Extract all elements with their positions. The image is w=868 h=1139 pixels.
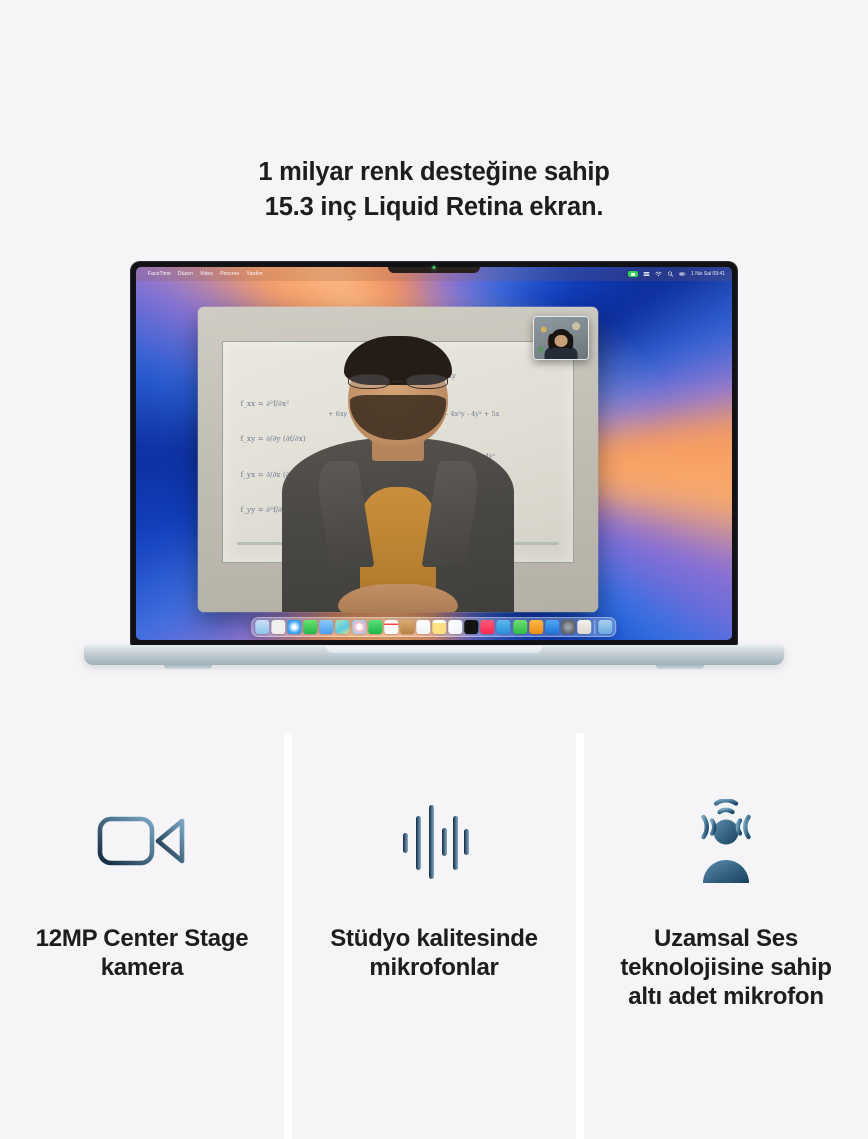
dock-item-launchpad[interactable] (271, 620, 285, 634)
laptop-foot-left (164, 665, 212, 669)
microphones-label-line-1: Stüdyo kalitesinde (330, 925, 538, 954)
battery-icon[interactable] (679, 271, 686, 277)
headline-line-1: 1 milyar renk desteğine sahip (0, 155, 868, 190)
dock-item-music[interactable] (481, 620, 495, 634)
caller-presenter (198, 423, 598, 612)
camera-label-line-1: 12MP Center Stage (36, 925, 249, 954)
audio-waveform-icon (399, 791, 469, 891)
menu-bar-clock[interactable]: 1 Nis Sal 09:41 (691, 271, 725, 277)
spatial-label-line-3: altı adet mikrofon (620, 983, 831, 1012)
control-center-icon[interactable] (643, 271, 650, 277)
search-icon[interactable] (667, 271, 674, 277)
dock-item-reminders[interactable] (416, 620, 430, 634)
glasses-lens-right (406, 374, 448, 389)
dock-item-app-store[interactable] (545, 620, 559, 634)
dock-item-facetime[interactable] (368, 620, 382, 634)
feature-card-spatial-audio-label: Uzamsal Ses teknolojisine sahip altı ade… (620, 925, 831, 1011)
feature-card-camera: 12MP Center Stage kamera (0, 733, 284, 1139)
dock-item-numbers[interactable] (513, 620, 527, 634)
dock-item-system-settings[interactable] (561, 620, 575, 634)
dock-item-keynote[interactable] (497, 620, 511, 634)
laptop-deck (84, 645, 784, 665)
video-feed-main: f_xx = ∂²f/∂x² f_xy = ∂/∂y (∂f/∂x) f_yx … (198, 307, 598, 612)
picture-in-picture-video[interactable] (533, 316, 589, 360)
dock-item-calendar[interactable] (384, 620, 398, 634)
dock-item-photos[interactable] (352, 620, 366, 634)
laptop-base (84, 645, 784, 679)
menu-item-pencere[interactable]: Pencere (220, 271, 239, 277)
hero-section: 1 milyar renk desteğine sahip 15.3 inç L… (0, 0, 868, 733)
dock-item-finder[interactable] (255, 620, 269, 634)
glasses-lens-left (348, 374, 390, 389)
dock-item-notes[interactable] (432, 620, 446, 634)
dock-item-safari[interactable] (287, 620, 301, 634)
dock-item-preview[interactable] (577, 620, 591, 634)
menu-item-facetime[interactable]: FaceTime (148, 271, 171, 277)
caller-glasses-icon (348, 374, 448, 389)
dock-item-messages[interactable] (304, 620, 318, 634)
feature-card-microphones-label: Stüdyo kalitesinde mikrofonlar (330, 925, 538, 983)
feature-card-camera-label: 12MP Center Stage kamera (36, 925, 249, 983)
menu-bar-items: FaceTime Düzen Video Pencere Yardım (141, 271, 263, 277)
dock-item-maps[interactable] (336, 620, 350, 634)
menu-bar-status-items: 1 Nis Sal 09:41 (628, 271, 727, 277)
feature-card-microphones: Stüdyo kalitesinde mikrofonlar (292, 733, 576, 1139)
macos-dock[interactable] (251, 617, 616, 637)
feature-card-spatial-audio: Uzamsal Ses teknolojisine sahip altı ade… (584, 733, 868, 1139)
microphones-label-line-2: mikrofonlar (330, 954, 538, 983)
dock-item-mail[interactable] (320, 620, 334, 634)
page-title: 1 milyar renk desteğine sahip 15.3 inç L… (0, 155, 868, 225)
dock-item-apple-tv[interactable] (465, 620, 479, 634)
glasses-bridge (392, 381, 404, 382)
laptop-foot-right (656, 665, 704, 669)
laptop-lid-lip (327, 646, 542, 653)
equation-left-1: f_xx = ∂²f/∂x² (241, 399, 290, 408)
laptop-lid: FaceTime Düzen Video Pencere Yardım (131, 262, 737, 646)
laptop-screen: FaceTime Düzen Video Pencere Yardım (136, 267, 732, 640)
macbook-air-product-image: FaceTime Düzen Video Pencere Yardım (84, 262, 784, 679)
spatial-label-line-1: Uzamsal Ses (620, 925, 831, 954)
menu-item-yardim[interactable]: Yardım (246, 271, 262, 277)
spatial-label-line-2: teknolojisine sahip (620, 954, 831, 983)
camera-in-use-indicator-icon (628, 271, 638, 277)
macos-menu-bar: FaceTime Düzen Video Pencere Yardım (136, 267, 732, 281)
pip-participant (544, 329, 577, 359)
video-camera-icon (96, 791, 188, 891)
spatial-audio-person-icon (683, 791, 769, 891)
wifi-icon[interactable] (655, 271, 662, 277)
headline-line-2: 15.3 inç Liquid Retina ekran. (0, 190, 868, 225)
dock-item-freeform[interactable] (448, 620, 462, 634)
dock-item-pages[interactable] (529, 620, 543, 634)
menu-item-duzen[interactable]: Düzen (178, 271, 193, 277)
menu-item-video[interactable]: Video (200, 271, 213, 277)
feature-cards-row: 12MP Center Stage kamera (0, 733, 868, 1139)
facetime-window[interactable]: f_xx = ∂²f/∂x² f_xy = ∂/∂y (∂f/∂x) f_yx … (198, 307, 598, 612)
camera-label-line-2: kamera (36, 954, 249, 983)
dock-separator (595, 620, 596, 634)
dock-item-downloads[interactable] (599, 620, 613, 634)
dock-item-contacts[interactable] (400, 620, 414, 634)
